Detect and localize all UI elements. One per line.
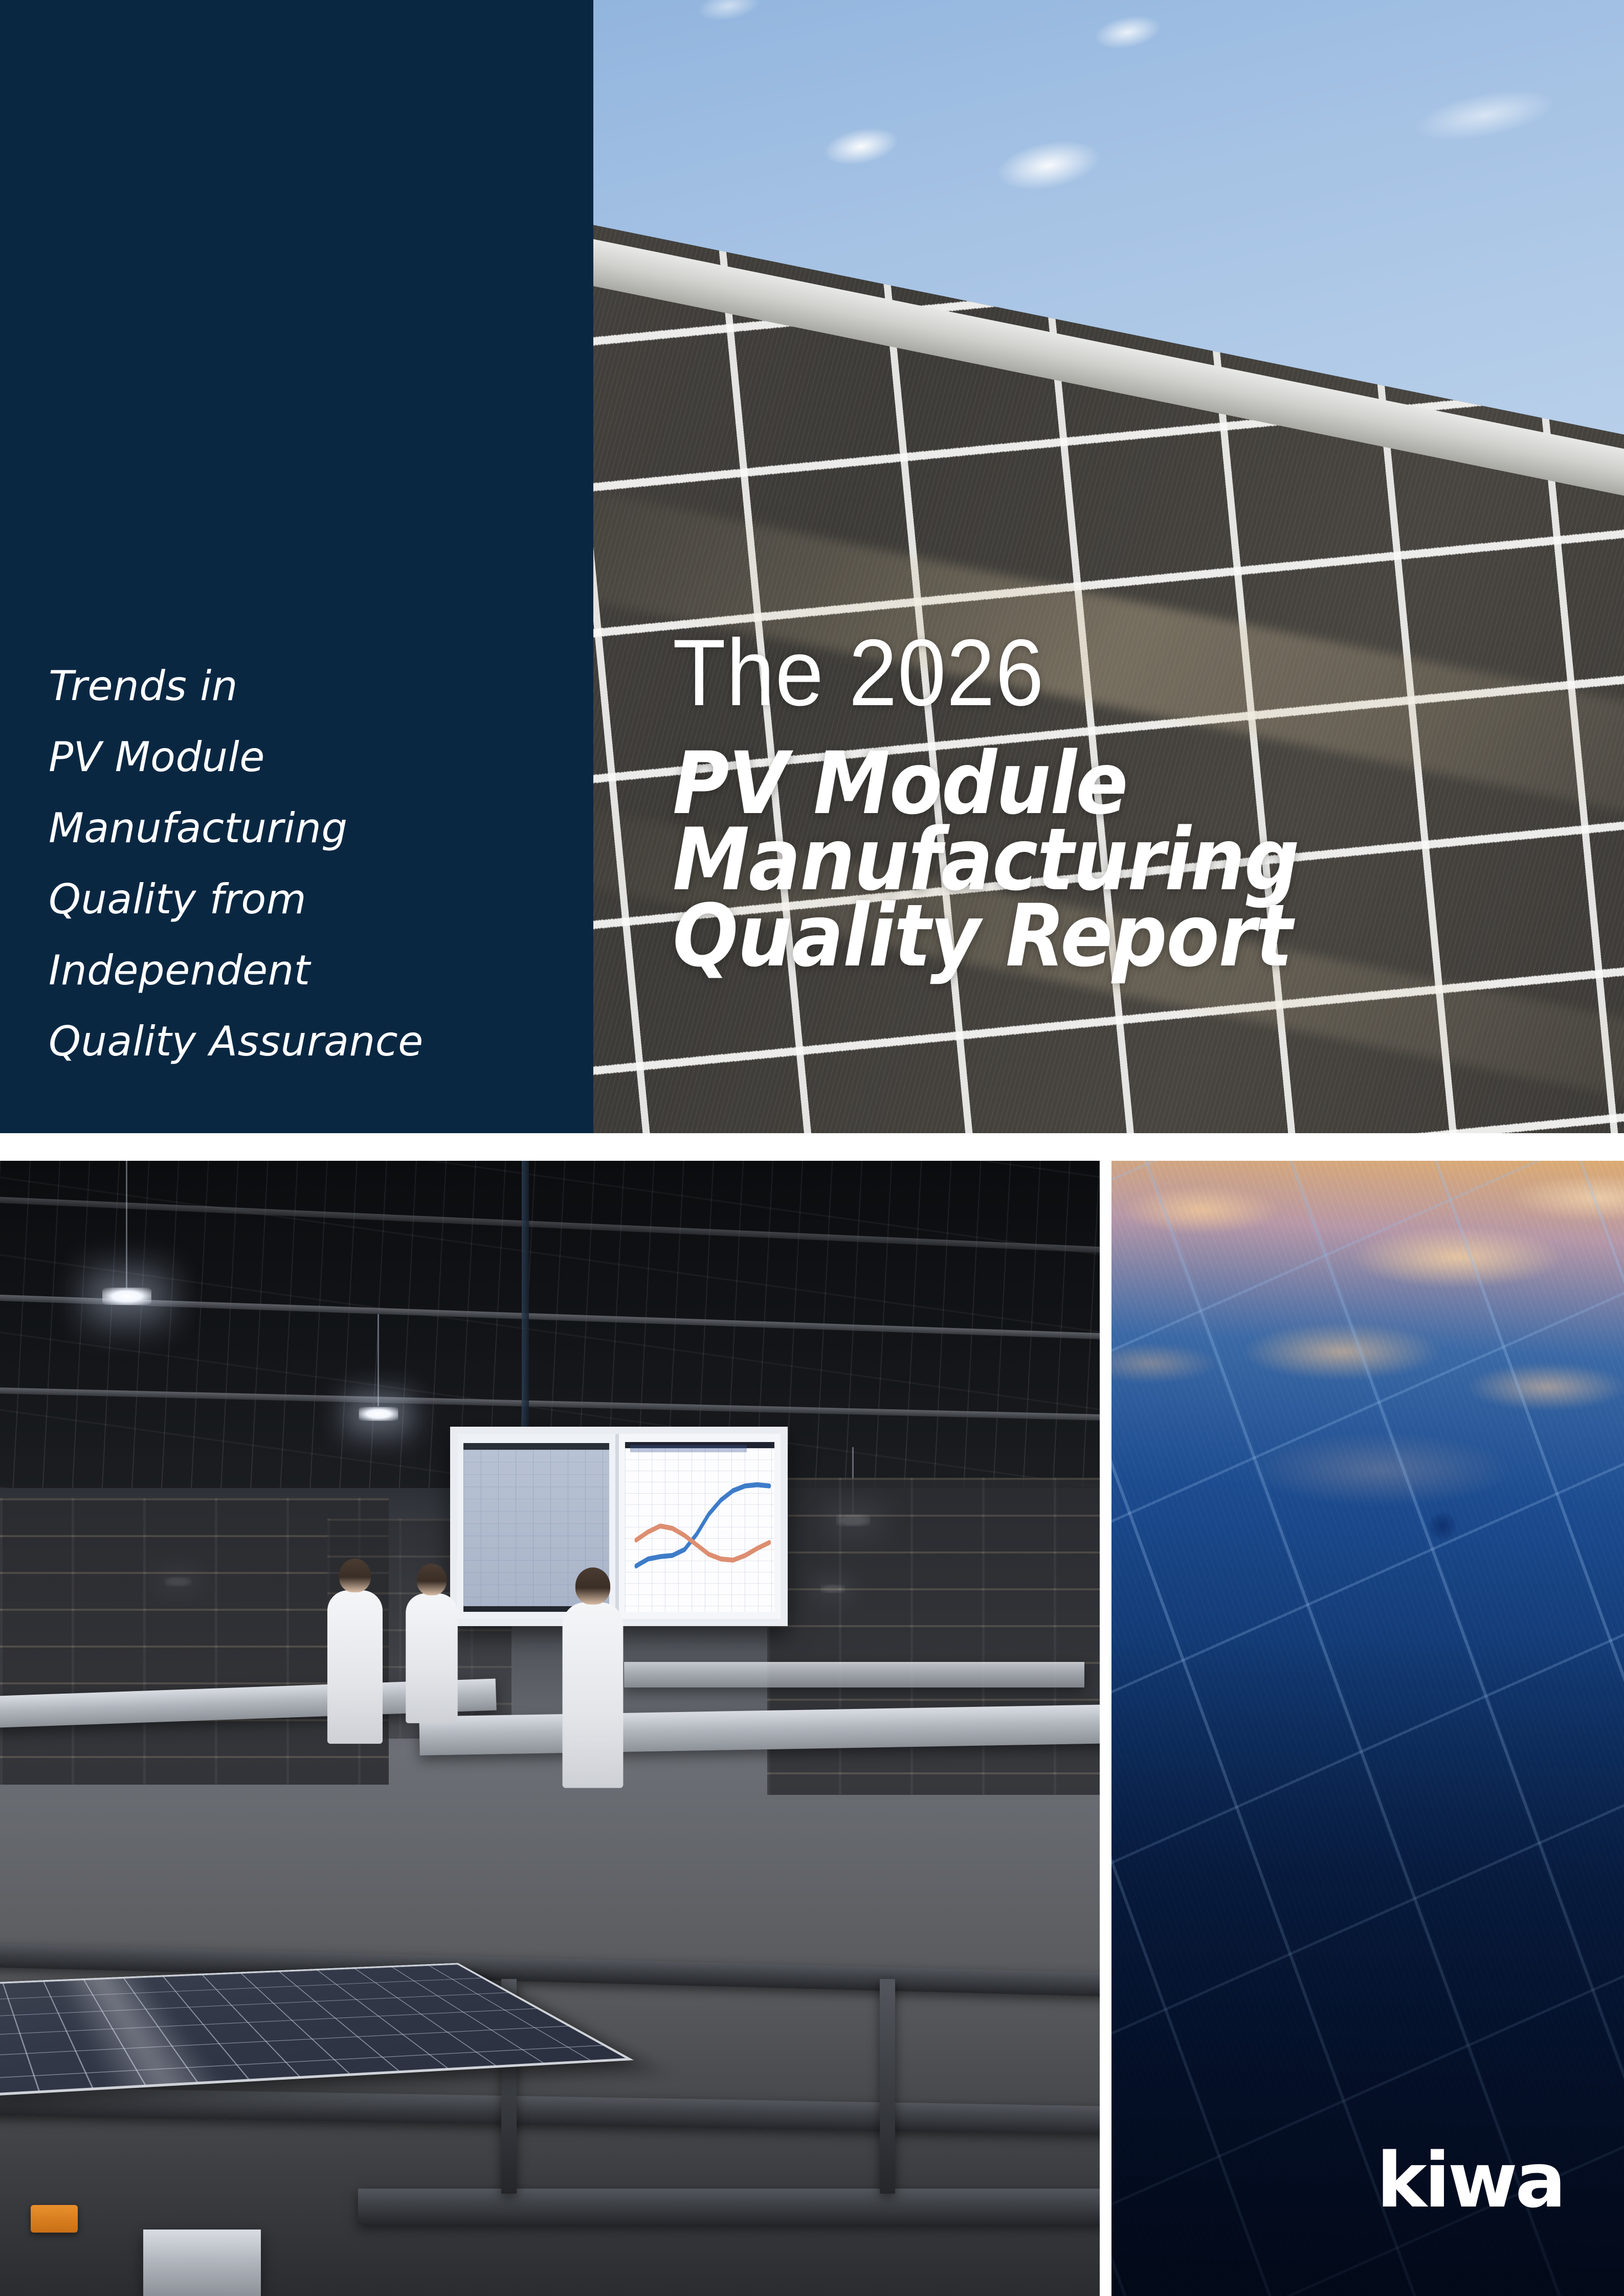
subtitle-line-1: Trends in (49, 650, 550, 722)
image-vignette (1111, 1161, 1624, 2296)
factory-worker (406, 1593, 458, 1723)
factory-worker (563, 1603, 624, 1788)
cover-subtitle-block: Trends in PV Module Manufacturing Qualit… (49, 650, 550, 1077)
cover-bottom-band: kiwa (0, 1161, 1624, 2296)
line-chart-screen (625, 1442, 774, 1612)
chart-svg (625, 1448, 774, 1612)
subtitle-line-5: Independent (49, 935, 550, 1006)
monitor-chart (619, 1434, 781, 1619)
title-year-line: The 2026 (673, 630, 1520, 716)
ceiling-light (359, 1407, 398, 1421)
assembly-table (624, 1662, 1084, 1687)
subtitle-line-6: Quality Assurance (49, 1006, 550, 1077)
indicator-housing (31, 2205, 78, 2233)
sunset-image-panel-reflection (1111, 1161, 1624, 2296)
factory-worker (327, 1590, 383, 1744)
factory-image-production-line (0, 1161, 1100, 2296)
conveyor-rail (358, 2189, 1100, 2224)
light-hanger-wire (126, 1161, 127, 1289)
cover-title-block: The 2026 PV Module Manufacturing Quality… (673, 630, 1593, 974)
machine-enclosure (143, 2230, 261, 2296)
ceiling-light (102, 1288, 151, 1305)
navy-sidebar-panel: Trends in PV Module Manufacturing Qualit… (0, 0, 593, 1133)
subtitle-line-3: Manufacturing (49, 793, 550, 864)
production-monitors (450, 1427, 788, 1626)
subtitle-line-4: Quality from (49, 864, 550, 935)
kiwa-logo: kiwa (1376, 2143, 1564, 2218)
cover-top-band: The 2026 PV Module Manufacturing Quality… (0, 0, 1624, 1133)
title-bold-line-3: Quality Report (673, 898, 1501, 974)
subtitle-line-2: PV Module (49, 722, 550, 793)
conveyor-rail (0, 2086, 1100, 2135)
light-hanger-wire (377, 1314, 379, 1406)
foreground-pv-module (0, 1963, 634, 2097)
conveyor-support (880, 1979, 895, 2194)
